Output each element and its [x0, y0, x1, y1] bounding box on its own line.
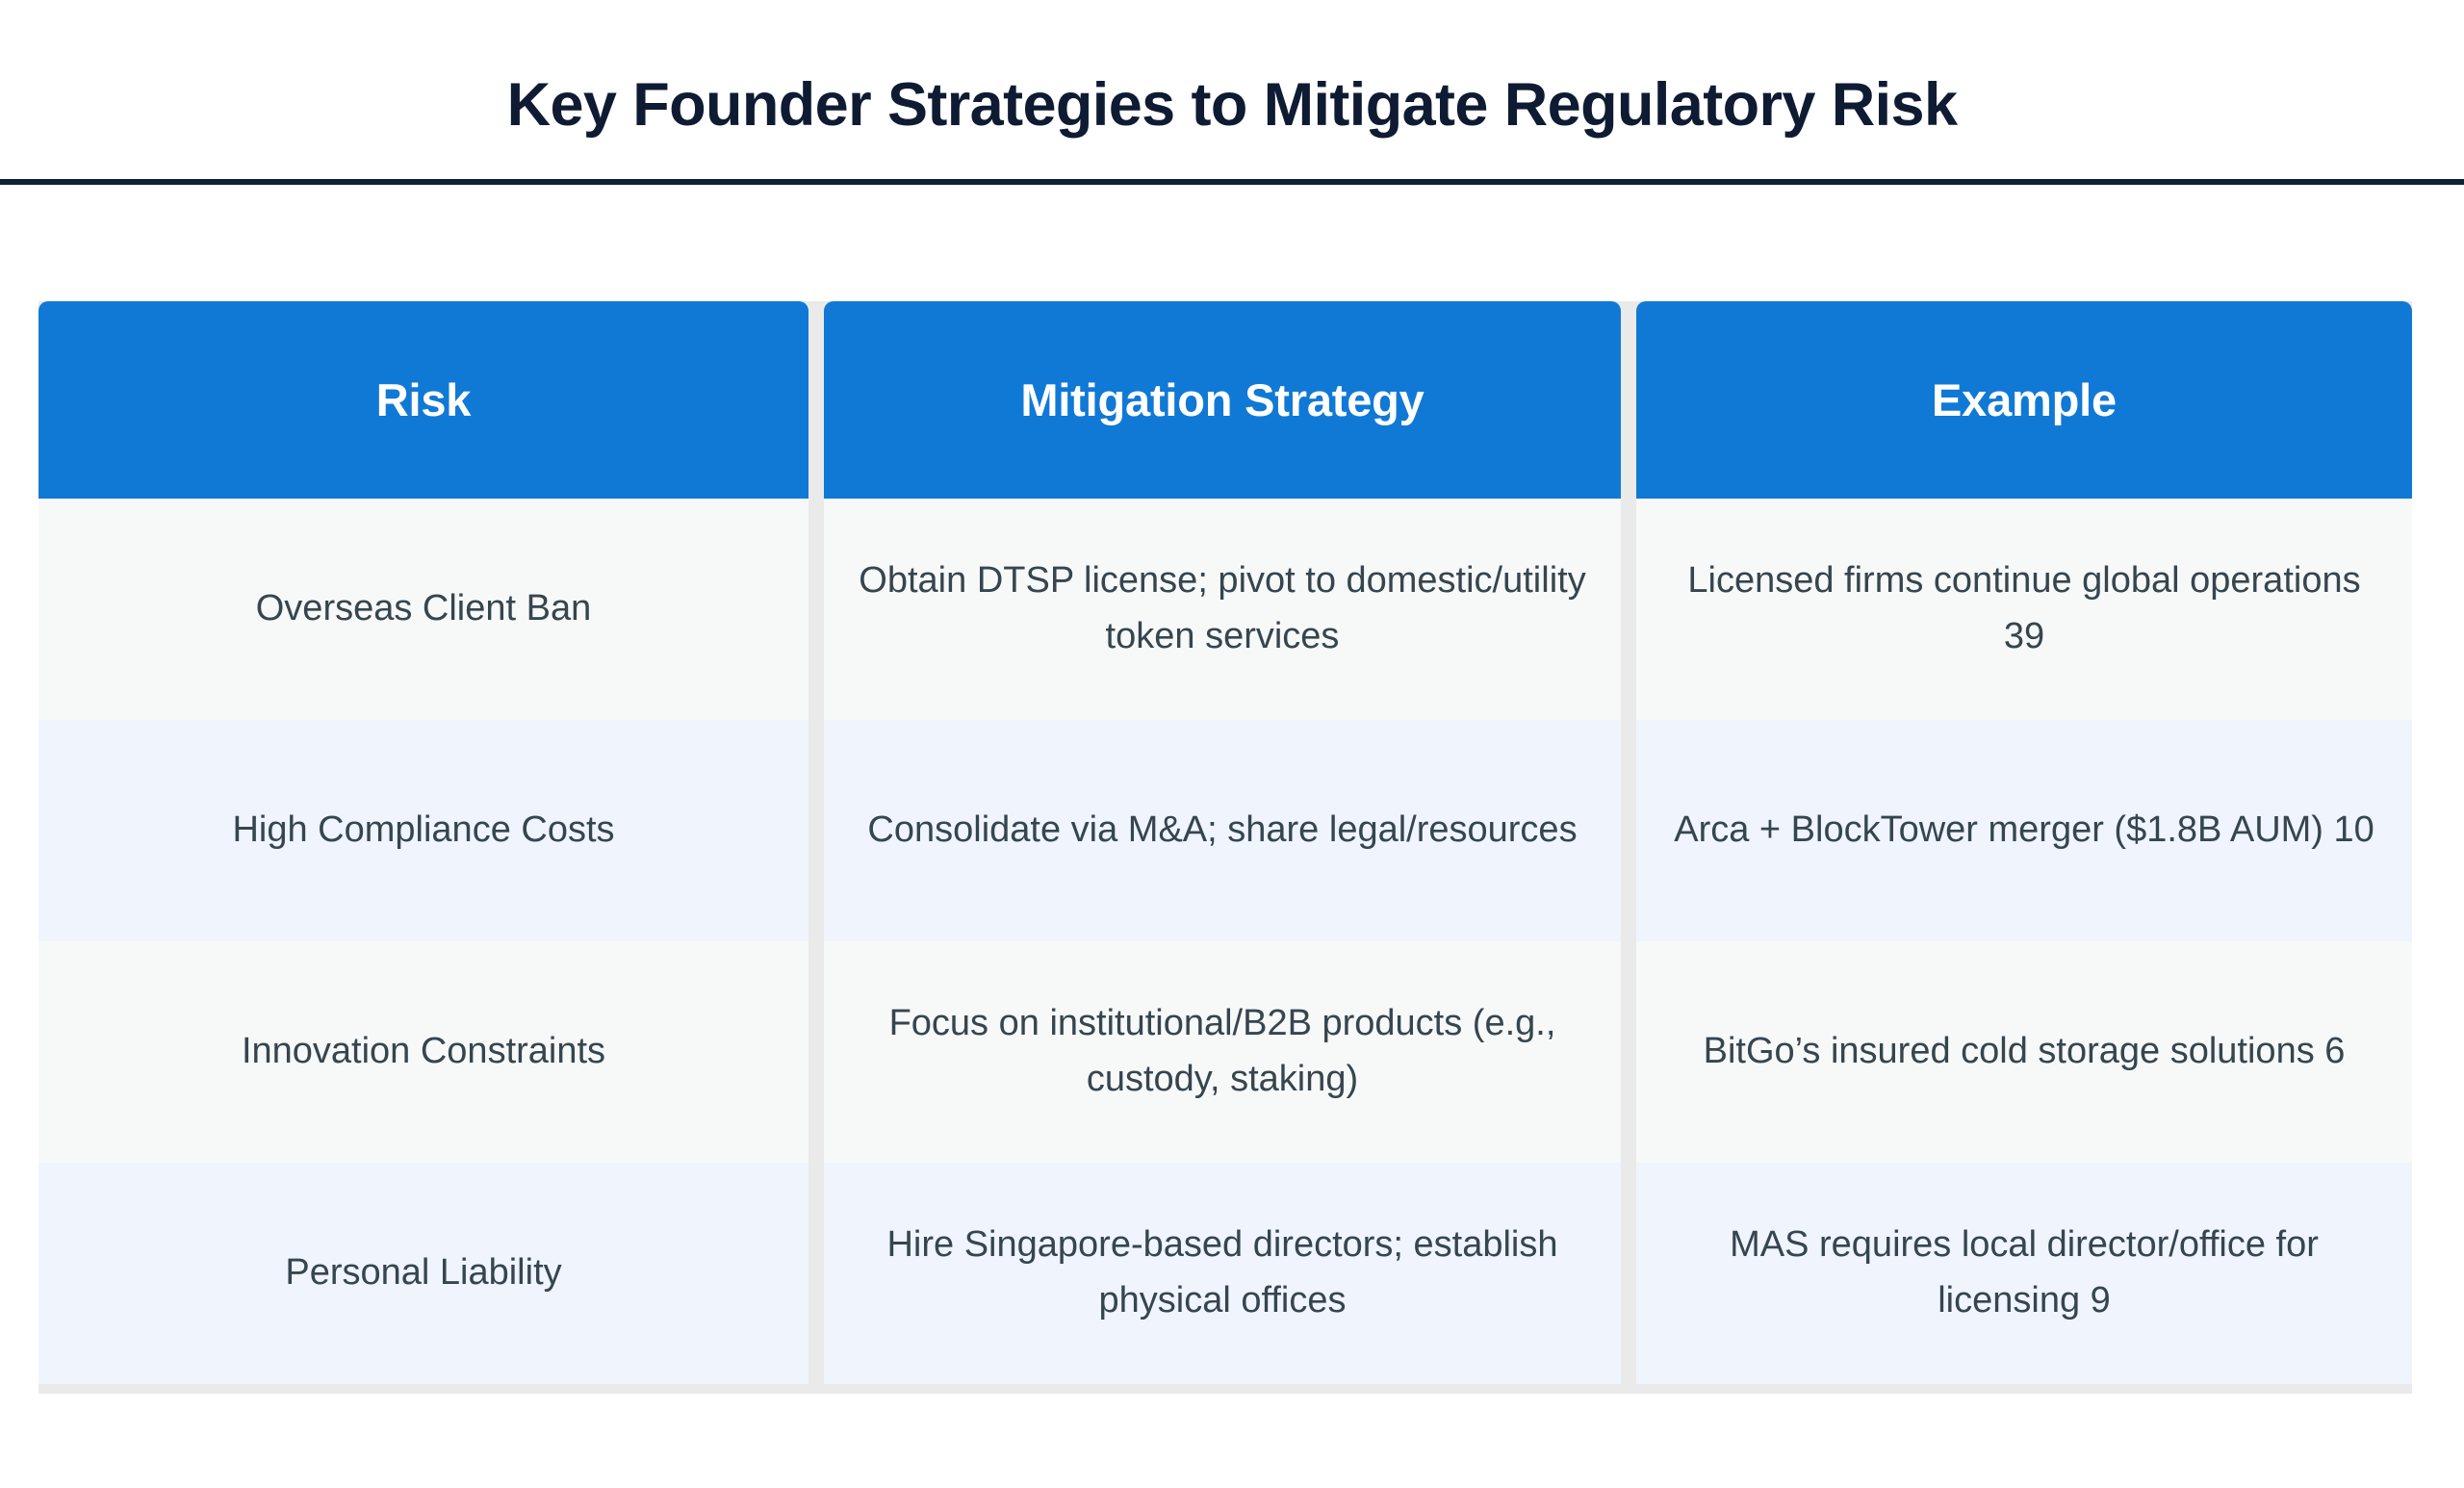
column-gap: [808, 301, 824, 499]
table-row: Innovation Constraints Focus on institut…: [38, 941, 2412, 1163]
cell-risk-text: Personal Liability: [285, 1245, 561, 1301]
cell-strategy-text: Obtain DTSP license; pivot to domestic/u…: [857, 553, 1588, 665]
cell-mitigation-strategy: Obtain DTSP license; pivot to domestic/u…: [824, 499, 1621, 720]
title-divider: [0, 179, 2464, 185]
column-gap: [808, 499, 824, 720]
column-gap: [1621, 941, 1636, 1163]
cell-mitigation-strategy: Hire Singapore-based directors; establis…: [824, 1163, 1621, 1384]
table-row: Personal Liability Hire Singapore-based …: [38, 1163, 2412, 1384]
page-title: Key Founder Strategies to Mitigate Regul…: [0, 71, 2464, 140]
column-header-risk: Risk: [38, 301, 808, 499]
comparison-table: Risk Mitigation Strategy Example Oversea…: [38, 301, 2412, 1394]
cell-risk: Personal Liability: [38, 1163, 808, 1384]
column-gap: [1621, 301, 1636, 499]
cell-example: MAS requires local director/office for l…: [1636, 1163, 2412, 1384]
cell-strategy-text: Consolidate via M&A; share legal/resourc…: [867, 803, 1577, 859]
cell-risk: Overseas Client Ban: [38, 499, 808, 720]
cell-risk-text: Overseas Client Ban: [256, 581, 592, 637]
column-gap: [1621, 499, 1636, 720]
column-header-example: Example: [1636, 301, 2412, 499]
cell-example-text: Licensed firms continue global operation…: [1669, 553, 2379, 665]
cell-example: Licensed firms continue global operation…: [1636, 499, 2412, 720]
column-gap: [808, 720, 824, 941]
table-row: Overseas Client Ban Obtain DTSP license;…: [38, 499, 2412, 720]
cell-risk: High Compliance Costs: [38, 720, 808, 941]
cell-mitigation-strategy: Focus on institutional/B2B products (e.g…: [824, 941, 1621, 1163]
cell-example-text: Arca + BlockTower merger ($1.8B AUM) 10: [1674, 803, 2374, 859]
table-row: High Compliance Costs Consolidate via M&…: [38, 720, 2412, 941]
cell-strategy-text: Focus on institutional/B2B products (e.g…: [857, 996, 1588, 1108]
title-block: Key Founder Strategies to Mitigate Regul…: [0, 0, 2464, 140]
column-header-mitigation-strategy: Mitigation Strategy: [824, 301, 1621, 499]
cell-mitigation-strategy: Consolidate via M&A; share legal/resourc…: [824, 720, 1621, 941]
cell-risk: Innovation Constraints: [38, 941, 808, 1163]
column-gap: [808, 1163, 824, 1384]
column-gap: [808, 941, 824, 1163]
column-gap: [1621, 1163, 1636, 1384]
cell-example-text: BitGo’s insured cold storage solutions 6: [1704, 1024, 2346, 1080]
cell-risk-text: Innovation Constraints: [242, 1024, 605, 1080]
cell-example-text: MAS requires local director/office for l…: [1669, 1218, 2379, 1329]
column-gap: [1621, 720, 1636, 941]
page-root: Key Founder Strategies to Mitigate Regul…: [0, 0, 2464, 1488]
cell-example: BitGo’s insured cold storage solutions 6: [1636, 941, 2412, 1163]
cell-strategy-text: Hire Singapore-based directors; establis…: [857, 1218, 1588, 1329]
table-header-row: Risk Mitigation Strategy Example: [38, 301, 2412, 499]
cell-risk-text: High Compliance Costs: [232, 803, 614, 859]
cell-example: Arca + BlockTower merger ($1.8B AUM) 10: [1636, 720, 2412, 941]
